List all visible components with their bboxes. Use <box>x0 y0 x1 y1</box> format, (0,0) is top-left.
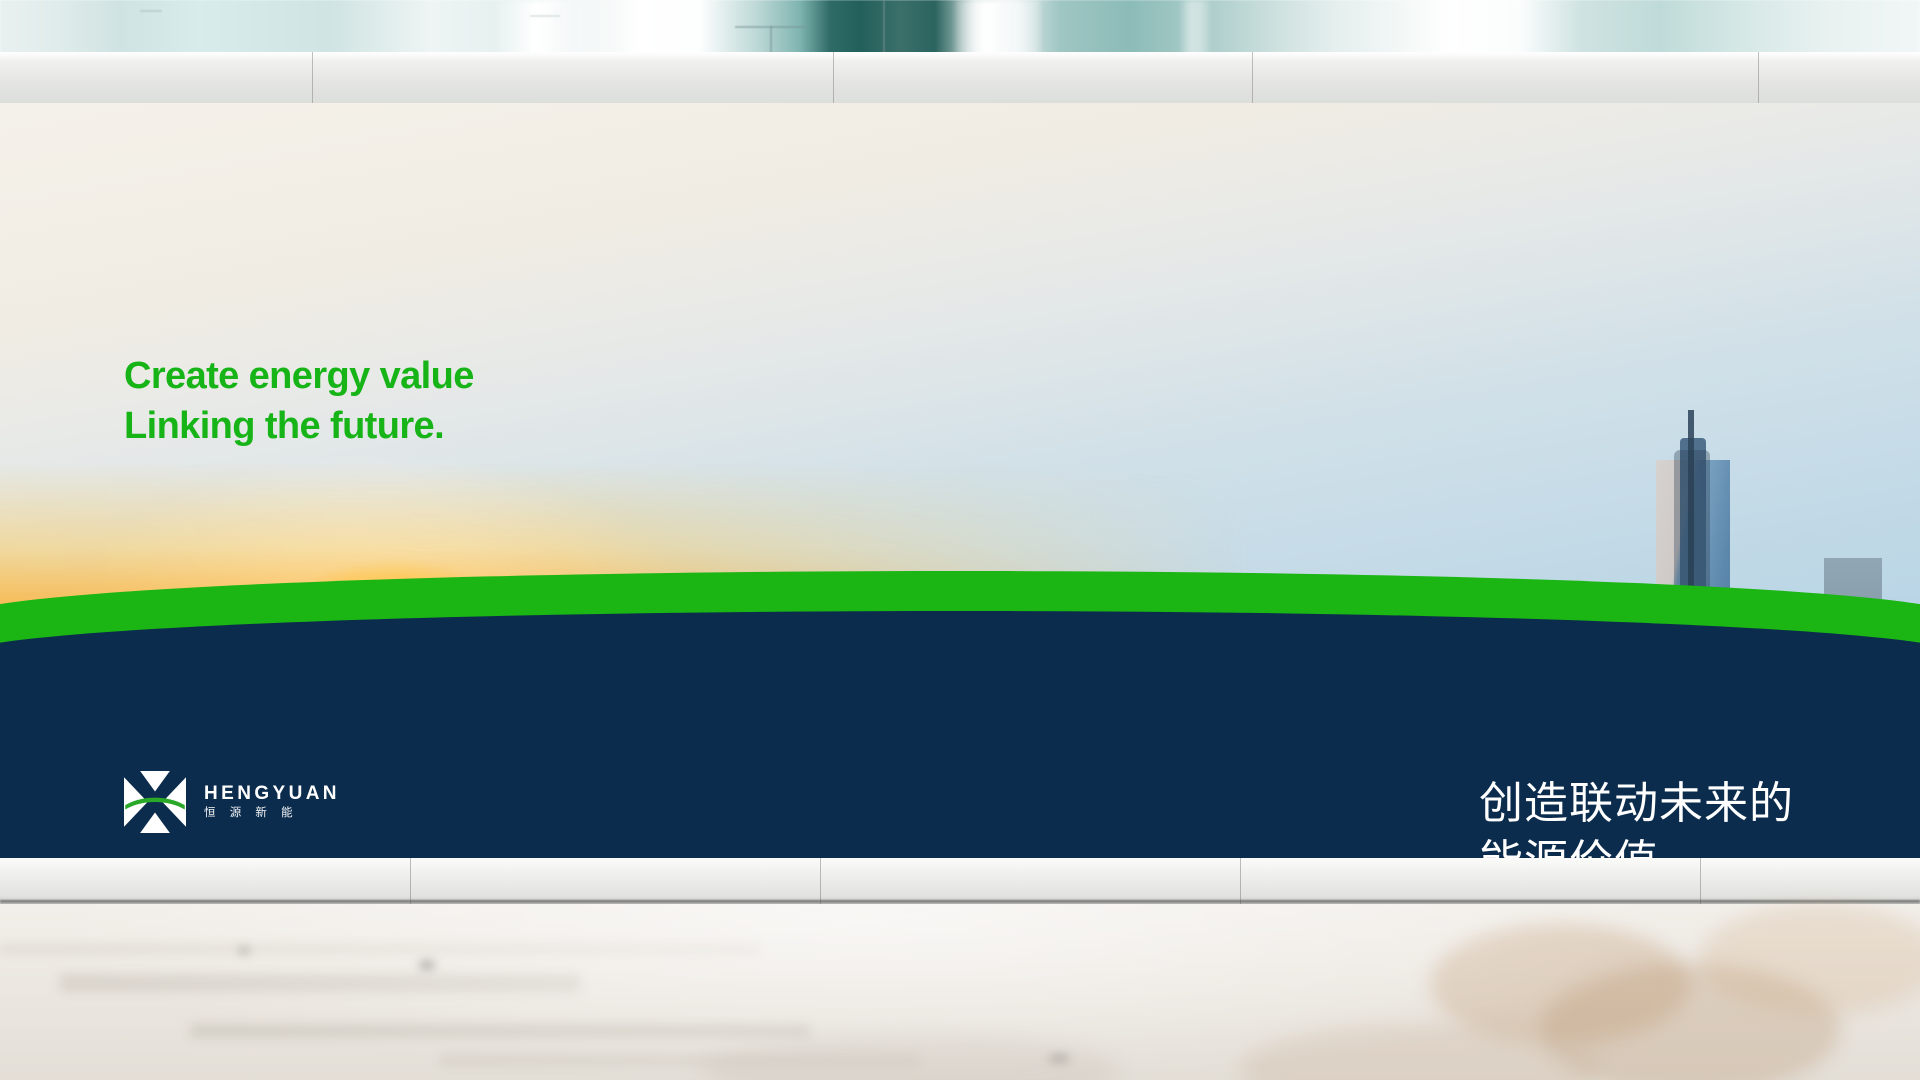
logo-wordmark-cn: 恒 源 新 能 <box>204 808 340 820</box>
tagline-cn-line-2: 能源价值 <box>1479 833 1794 858</box>
headline-text: Create energy value Linking the future. <box>124 351 474 451</box>
ledge-seam <box>833 52 834 104</box>
hengyuan-x-arc-mark-icon <box>124 771 186 833</box>
green-band-lower-edge <box>0 611 1920 731</box>
concrete-ledge-top <box>0 52 1920 104</box>
brand-logo-lockup: HENGYUAN 恒 源 新 能 <box>124 771 340 833</box>
ledge-seam <box>312 52 313 104</box>
headline-line-1: Create energy value <box>124 351 474 401</box>
concrete-ledge-bottom <box>0 858 1920 904</box>
ledge-seam <box>1758 52 1759 104</box>
ledge-seam <box>1252 52 1253 104</box>
ledge-seam <box>410 858 411 904</box>
logo-wordmark-en: HENGYUAN <box>204 784 340 803</box>
background-post <box>883 0 885 52</box>
ledge-seam <box>820 858 821 904</box>
ledge-seam <box>1700 858 1701 904</box>
billboard-mockup-scene: Create energy value Linking the future. … <box>0 0 1920 1080</box>
tagline-cn-line-1: 创造联动未来的 <box>1479 775 1794 833</box>
ledge-seam <box>1240 858 1241 904</box>
background-rail-b <box>770 26 772 54</box>
background-rail-d <box>530 15 560 17</box>
logo-wordmark-group: HENGYUAN 恒 源 新 能 <box>204 784 340 820</box>
billboard-panel: Create energy value Linking the future. … <box>0 103 1920 858</box>
tagline-cn: 创造联动未来的 能源价值 <box>1479 775 1794 858</box>
floor-light-vignette <box>0 904 1920 1080</box>
background-rail-c <box>140 10 162 12</box>
headline-line-2: Linking the future. <box>124 401 474 451</box>
